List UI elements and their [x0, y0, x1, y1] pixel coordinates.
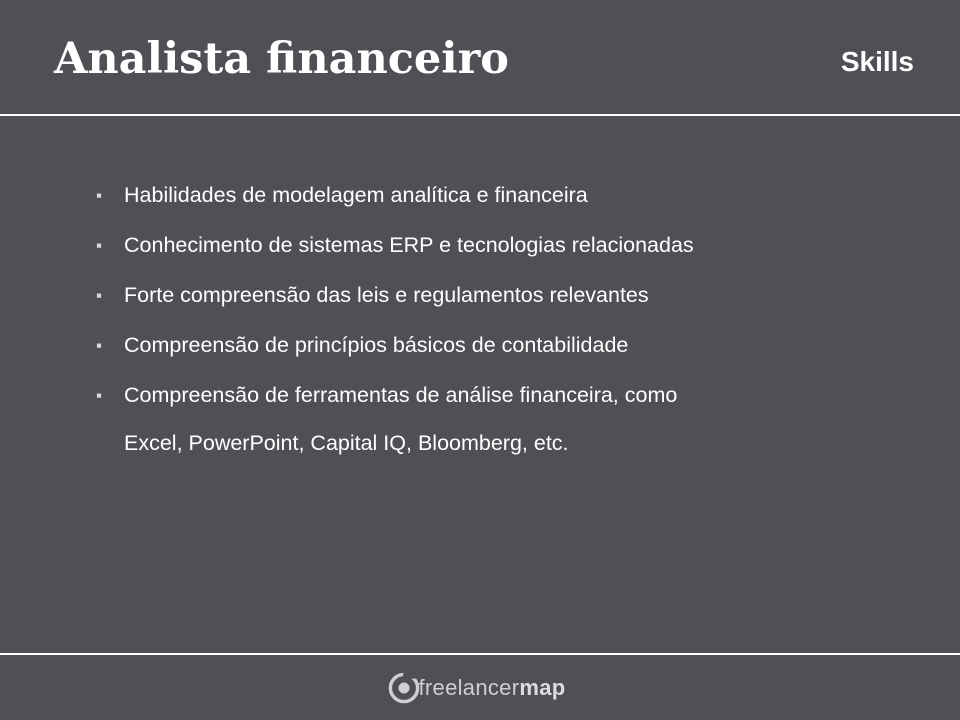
- logo-circle-icon: [387, 671, 421, 705]
- bullet-marker-icon: ▪: [96, 282, 124, 309]
- slide-footer: freelancermap: [0, 655, 960, 720]
- slide-header: Analista financeiro Skills: [0, 0, 960, 114]
- bullet-marker-icon: ▪: [96, 332, 124, 359]
- list-item-label: Habilidades de modelagem analítica e fin…: [124, 182, 896, 208]
- list-item-label: Compreensão de princípios básicos de con…: [124, 332, 896, 358]
- slide-section-label: Skills: [841, 48, 914, 76]
- slide: Analista financeiro Skills ▪ Habilidades…: [0, 0, 960, 720]
- bullet-marker-icon: ▪: [96, 382, 124, 409]
- list-item-label: Conhecimento de sistemas ERP e tecnologi…: [124, 232, 896, 258]
- list-item: ▪ Habilidades de modelagem analítica e f…: [96, 182, 896, 209]
- list-item-label: Forte compreensão das leis e regulamento…: [124, 282, 896, 308]
- list-item: ▪ Conhecimento de sistemas ERP e tecnolo…: [96, 232, 896, 259]
- list-item: ▪ Forte compreensão das leis e regulamen…: [96, 282, 896, 309]
- list-item-label-line2: Excel, PowerPoint, Capital IQ, Bloomberg…: [124, 430, 896, 456]
- page-title: Analista financeiro: [54, 38, 509, 81]
- bullet-list: ▪ Habilidades de modelagem analítica e f…: [96, 182, 896, 479]
- list-item: ▪ Compreensão de ferramentas de análise …: [96, 382, 896, 456]
- bullet-marker-icon: ▪: [96, 232, 124, 259]
- list-item-label: Compreensão de ferramentas de análise fi…: [124, 382, 896, 456]
- list-item: ▪ Compreensão de princípios básicos de c…: [96, 332, 896, 359]
- header-divider: [0, 114, 960, 116]
- logo-wordmark-first: freelancer: [419, 675, 520, 700]
- freelancermap-logo: freelancermap: [387, 671, 574, 705]
- bullet-marker-icon: ▪: [96, 182, 124, 209]
- logo-wordmark-second: map: [519, 675, 565, 700]
- list-item-label-line1: Compreensão de ferramentas de análise fi…: [124, 383, 677, 407]
- logo-wordmark: freelancermap: [419, 677, 566, 699]
